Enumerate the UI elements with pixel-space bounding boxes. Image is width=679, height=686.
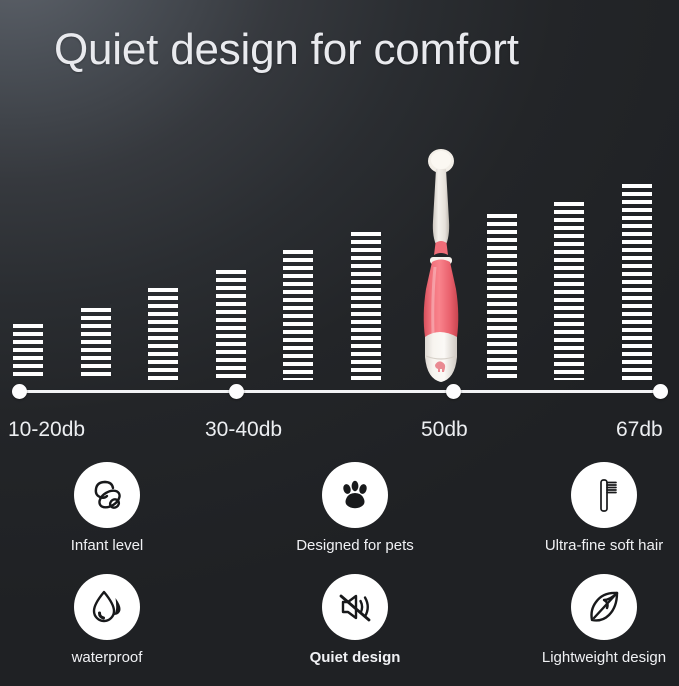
eq-bar [351,232,381,380]
eq-bar [13,324,43,380]
feature-infant-level[interactable]: Infant level [7,462,207,554]
axis-label-67db: 67db [616,418,663,442]
water-drop-icon [74,574,140,640]
axis-dot-1 [12,384,27,399]
axis-label-30-40db: 30-40db [205,418,282,442]
feature-ultra-fine-soft-hair[interactable]: Ultra-fine soft hair [504,462,679,554]
feature-label: Designed for pets [255,537,455,554]
feature-label: Lightweight design [504,649,679,666]
feature-label: Infant level [7,537,207,554]
pacifier-icon [74,462,140,528]
feature-label: Quiet design [255,649,455,666]
axis-label-10-20db: 10-20db [8,418,85,442]
eq-bar [487,214,517,380]
paw-print-icon [322,462,388,528]
eq-bar [283,250,313,380]
eq-bar [81,308,111,380]
product-toothbrush-image [395,143,487,388]
feature-grid: Infant level Designed for pets Ultra [0,462,679,686]
decibel-axis-line [19,390,660,393]
eq-bar [554,202,584,380]
toothbrush-icon [571,462,637,528]
promo-banner: Quiet design for comfort 10-20db 30-40db… [0,0,679,686]
mute-speaker-icon [322,574,388,640]
axis-dot-4 [653,384,668,399]
feature-label: Ultra-fine soft hair [504,537,679,554]
eq-bar [622,184,652,380]
feather-icon [571,574,637,640]
axis-label-50db: 50db [421,418,468,442]
feature-lightweight-design[interactable]: Lightweight design [504,574,679,666]
feature-waterproof[interactable]: waterproof [7,574,207,666]
eq-bar [216,270,246,380]
feature-label: waterproof [7,649,207,666]
axis-dot-2 [229,384,244,399]
feature-designed-for-pets[interactable]: Designed for pets [255,462,455,554]
feature-quiet-design[interactable]: Quiet design [255,574,455,666]
eq-bar [148,288,178,380]
